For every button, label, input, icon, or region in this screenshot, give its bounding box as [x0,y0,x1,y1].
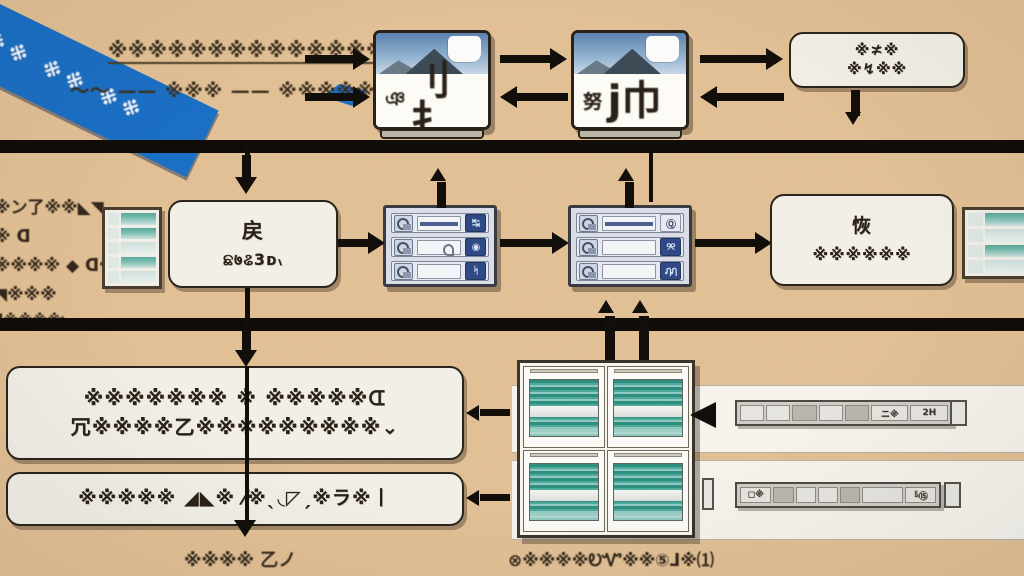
action-button[interactable]: ◉ [465,238,486,256]
striped-record-list[interactable] [102,207,162,289]
workstation-a-stand [380,129,484,139]
dialog-row[interactable]: Ⓠ [576,213,684,233]
arrow-feed-right-top [305,48,371,70]
field-input[interactable] [417,264,461,279]
top-callout-line-2: ※↯※※ [847,60,907,79]
bottom-card-big-line-1: ※※※※※※※ ※ ※※※※※ᗭ [84,386,387,411]
settings-dialog-a[interactable]: ↹ ◉ ᛋ [383,205,497,287]
workstation-b-glyph-large: ј巾 [608,81,662,121]
toolbar-cell[interactable] [773,487,793,503]
grid-pane[interactable] [607,366,689,448]
workstation-b-stand [578,129,682,139]
toolbar-badge: ╚⑮ [905,487,936,503]
arrow-toolbar-top-left [690,400,726,426]
pane-tab [614,369,682,373]
arrow-headline-to-center-card [233,155,261,199]
list-item[interactable] [108,213,156,225]
list-item[interactable] [108,228,156,240]
toolbar-cell[interactable] [845,405,869,421]
left-note-line-4: ◥※※※ [0,283,57,308]
disk-icon [579,263,598,280]
toolbar-top-flap[interactable] [950,400,967,426]
teal-data-block [529,463,599,521]
settings-dialog-b[interactable]: Ⓠ ୨୧ ฦฦ [568,205,692,287]
toolbar-cell[interactable] [740,405,764,421]
left-note-line-3: ※※※※ ◆ ᗡ※ [0,254,116,279]
workstation-a-glyph-large: 刂扌 [411,61,479,130]
right-card[interactable]: 恢 ※※※※※※ [770,194,954,286]
list-item[interactable] [968,213,1024,226]
list-item[interactable] [968,245,1024,258]
pane-tab [614,453,682,457]
right-card-line-1: 恢 [852,215,872,239]
list-item[interactable] [968,229,1024,242]
workstation-b-caption: 努 ј巾 [574,74,686,127]
toolbar-label: ◻※ [740,487,771,503]
bottom-card-big[interactable]: ※※※※※※※ ※ ※※※※※ᗭ 冗※※※※⼄※※※※※※※※※⌄ [6,366,464,460]
dialog-row[interactable]: ᛋ [391,261,489,281]
field-input[interactable] [602,216,656,231]
arrow-card-big-left [466,403,510,423]
toolbar-badge: 2H [910,405,948,421]
arrow-dialog-b-to-right-card [695,232,773,254]
grid-pane[interactable] [523,450,605,532]
arrow-grid-up-left [596,300,624,362]
workstation-b-glyph-small: 努 [583,87,602,114]
pane-tab [530,369,598,373]
divider-band-bottom [0,318,1024,331]
bottom-card-big-line-2: 冗※※※※⼄※※※※※※※※※⌄ [71,415,400,440]
toolbar-label: ニ※ [871,405,909,421]
doc-icon [579,239,598,256]
field-input[interactable] [417,216,461,231]
workstation-a-screen: ঞ 刂扌 [373,30,491,130]
list-item[interactable] [968,260,1024,273]
toolbar-cell[interactable] [818,487,838,503]
toolbar-cell[interactable] [862,487,902,503]
bottom-card-small-line-1: ※※※※※ ◢◣※ ⁄※ˎ◟◸ˏ※ラ※丨 [78,487,392,511]
four-pane-data-grid[interactable] [517,360,695,538]
doc-icon [394,239,413,256]
dialog-row[interactable]: ↹ [391,213,489,233]
arrow-callout-to-monitorb [700,86,784,108]
cloud-shape-icon [646,36,680,62]
workstation-a-glyph-small: ঞ [385,85,405,117]
teal-data-block [613,463,683,521]
teal-data-block [613,379,683,437]
center-card-line-2: ଛ७ଌ3ᴅ៶ [223,250,283,270]
connector-bottom-vertical [245,366,249,526]
arrow-monitors-left [500,86,568,108]
arrow-list-to-dialog-a [338,232,386,254]
toolbar-cell[interactable] [819,405,843,421]
diagram-canvas: ※※※ ※※ ※※ ※※※※※※※※※※※※※※※※※ 〜〜 —— ※※※ ——… [0,0,1024,576]
dialog-row[interactable]: ୨୧ [576,237,684,257]
left-note-line-1: ※ン了※※◣◥ [0,196,104,221]
field-input[interactable] [417,240,461,255]
top-callout-card[interactable]: ※≭※ ※↯※※ [789,32,965,88]
pane-tab [530,453,598,457]
bottom-card-small[interactable]: ※※※※※ ◢◣※ ⁄※ˎ◟◸ˏ※ラ※丨 [6,472,464,526]
connector-center-down [245,288,250,330]
top-callout-line-1: ※≭※ [855,41,899,60]
workstation-b-screen: 努 ј巾 [571,30,689,130]
left-note-line-2: ※ ᗡ [0,225,31,250]
grid-pane[interactable] [523,366,605,448]
right-card-line-2: ※※※※※※ [812,245,911,265]
workstation-b[interactable]: 努 ј巾 [571,30,689,130]
user-icon [394,215,413,232]
disk-icon [394,263,413,280]
clipped-teal-table[interactable] [962,207,1024,279]
dialog-row[interactable]: ฦฦ [576,261,684,281]
arrow-dialog-a-to-b [500,232,570,254]
landscape-photo-icon [574,33,686,74]
action-button[interactable]: Ⓠ [660,214,681,232]
list-item[interactable] [108,242,156,254]
ruler-toolbar-bottom[interactable]: ◻※ ╚⑮ [735,482,941,508]
divider-band-top [0,140,1024,153]
action-button[interactable]: ୨୧ [660,238,681,256]
workstation-a[interactable]: ঞ 刂扌 [373,30,491,130]
arrow-feed-right-bottom [305,86,371,108]
center-card[interactable]: 戻 ଛ७ଌ3ᴅ៶ [168,200,338,288]
field-input[interactable] [602,240,656,255]
arrow-card-small-left [466,488,510,508]
workstation-a-caption: ঞ 刂扌 [376,74,488,127]
action-button[interactable]: ᛋ [465,262,486,280]
field-input[interactable] [602,264,656,279]
arrow-monitors-right [500,48,568,70]
action-button[interactable]: ↹ [465,214,486,232]
list-item[interactable] [108,271,156,283]
list-item[interactable] [108,257,156,269]
dialog-row[interactable]: ◉ [391,237,489,257]
toolbar-bottom-flap-right[interactable] [944,482,961,508]
cloud-shape-icon [448,36,482,62]
toolbar-cell[interactable] [840,487,860,503]
action-button[interactable]: ฦฦ [660,262,681,280]
arrow-callout-down [845,90,869,130]
toolbar-bottom-flap-left[interactable] [702,478,714,510]
arrow-grid-up-right [630,300,658,362]
toolbar-cell[interactable] [796,487,816,503]
arrow-dialog-a-up [428,168,456,208]
arrow-dialog-up [616,168,644,208]
banner-label: ※※※ ※※ ※※ [0,17,149,126]
grid-pane[interactable] [607,450,689,532]
arrow-footer-down [232,520,260,546]
toolbar-cell[interactable] [792,405,816,421]
arrow-monitorb-to-callout [700,48,784,70]
ruler-toolbar-top[interactable]: ニ※ 2H [735,400,953,426]
footer-caption: ※※※※ 乙ノ [184,546,296,572]
user-icon [579,215,598,232]
teal-data-block [529,379,599,437]
center-card-line-1: 戻 [242,218,264,244]
connector-monitor-down [649,140,653,202]
toolbar-cell[interactable] [766,405,790,421]
sheet-caption: ⊗※※※※ᎧᏉ※※⑤ᒧ※⑴ [508,546,714,571]
